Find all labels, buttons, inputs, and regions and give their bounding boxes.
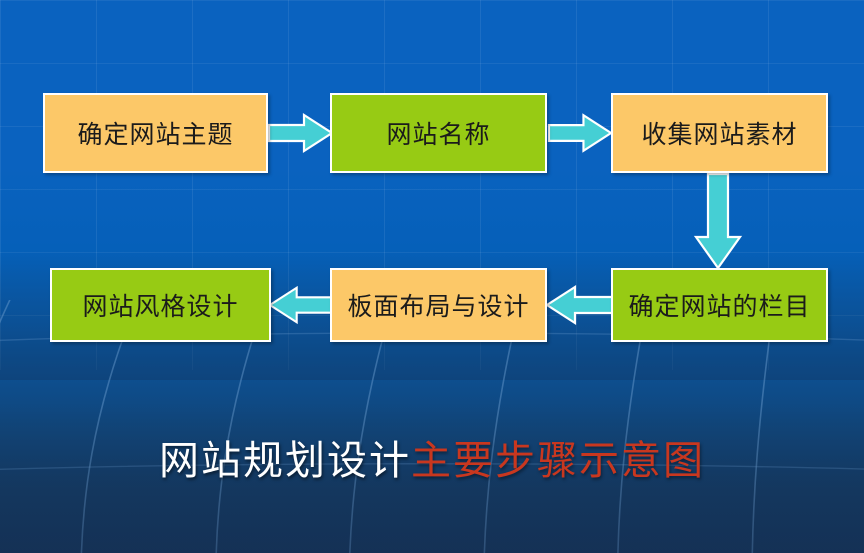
flow-node-label: 收集网站素材 (641, 115, 797, 151)
connector-arrow-down-material-to-columns (693, 173, 745, 270)
flow-node-label: 网站名称 (386, 115, 490, 151)
connector-arrow-right-name-to-material (548, 111, 613, 155)
diagram-caption: 网站规划设计主要步骤示意图 (0, 428, 864, 486)
flow-node-confirm-theme[interactable]: 确定网站主题 (43, 93, 268, 173)
flow-node-label: 网站风格设计 (82, 287, 238, 323)
connector-arrow-left-columns-to-layout (545, 283, 614, 327)
flow-node-site-name[interactable]: 网站名称 (330, 93, 547, 173)
connector-arrow-right-theme-to-name (268, 111, 334, 155)
slide-canvas: 确定网站主题 网站名称 收集网站素材 确定网站的栏目 板面布局与设计 网站风格设… (0, 0, 864, 553)
flow-node-label: 确定网站的栏目 (628, 287, 810, 323)
flow-node-define-columns[interactable]: 确定网站的栏目 (611, 268, 828, 342)
flow-node-layout-design[interactable]: 板面布局与设计 (330, 268, 547, 342)
flow-node-style-design[interactable]: 网站风格设计 (50, 268, 271, 342)
flow-node-label: 板面布局与设计 (347, 287, 529, 323)
flow-node-label: 确定网站主题 (77, 115, 233, 151)
connector-arrow-left-layout-to-style (268, 283, 334, 327)
caption-main-text: 网站规划设计 (159, 439, 411, 483)
flow-node-collect-material[interactable]: 收集网站素材 (611, 93, 828, 173)
caption-emphasis-text: 主要步骤示意图 (411, 439, 705, 483)
